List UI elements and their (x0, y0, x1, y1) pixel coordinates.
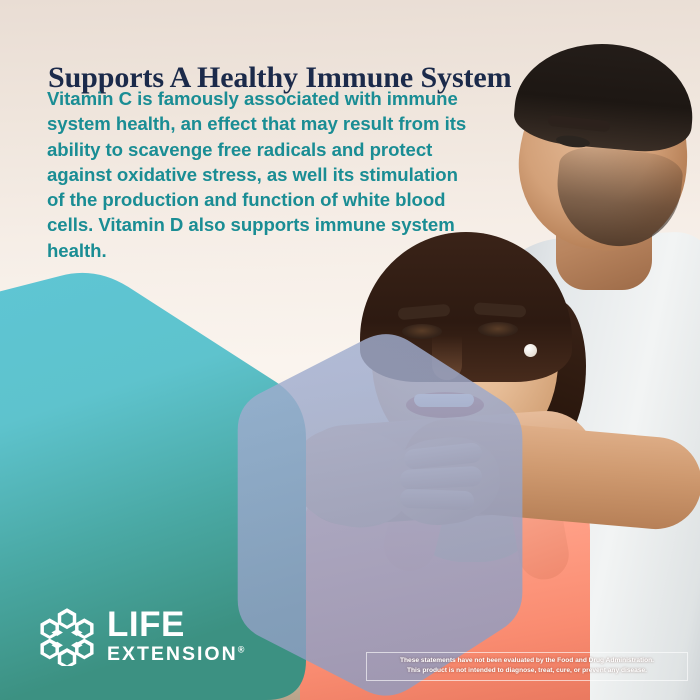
body-copy: Vitamin C is famously associated with im… (47, 86, 477, 263)
brand-wordmark: LIFE EXTENSION® (107, 607, 244, 665)
brand-logo: LIFE EXTENSION® (38, 606, 244, 666)
registered-trademark-icon: ® (238, 645, 245, 655)
brand-name-line1: LIFE (107, 607, 244, 642)
brand-name-line2: EXTENSION® (107, 645, 244, 665)
disclaimer-line-2: This product is not intended to diagnose… (372, 666, 682, 676)
body-paragraph: Vitamin C is famously associated with im… (47, 86, 477, 263)
disclaimer-line-1: These statements have not been evaluated… (372, 656, 682, 666)
fda-disclaimer: These statements have not been evaluated… (366, 652, 688, 681)
product-marketing-image: Supports A Healthy Immune System Vitamin… (0, 0, 700, 700)
hexagon-lattice-icon (38, 606, 96, 666)
hexagon-small-blue (238, 334, 523, 696)
